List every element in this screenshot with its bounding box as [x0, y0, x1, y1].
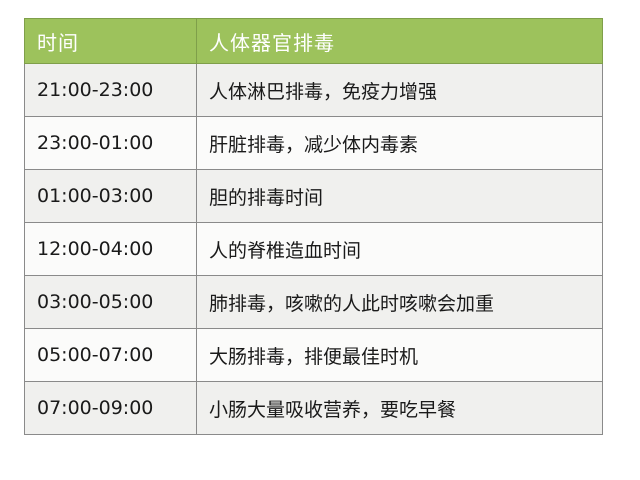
- column-header-time: 时间: [25, 19, 197, 64]
- table-row: 05:00-07:00 大肠排毒，排便最佳时机: [25, 329, 603, 382]
- table-body: 21:00-23:00 人体淋巴排毒，免疫力增强 23:00-01:00 肝脏排…: [25, 64, 603, 435]
- table-header-row: 时间 人体器官排毒: [25, 19, 603, 64]
- cell-time: 12:00-04:00: [25, 223, 197, 276]
- cell-organ: 大肠排毒，排便最佳时机: [197, 329, 603, 382]
- cell-organ: 肝脏排毒，减少体内毒素: [197, 117, 603, 170]
- table-row: 01:00-03:00 胆的排毒时间: [25, 170, 603, 223]
- cell-time: 21:00-23:00: [25, 64, 197, 117]
- cell-time: 03:00-05:00: [25, 276, 197, 329]
- table-row: 12:00-04:00 人的脊椎造血时间: [25, 223, 603, 276]
- cell-organ: 胆的排毒时间: [197, 170, 603, 223]
- cell-time: 23:00-01:00: [25, 117, 197, 170]
- cell-organ: 小肠大量吸收营养，要吃早餐: [197, 382, 603, 435]
- organ-detox-schedule-table: 时间 人体器官排毒 21:00-23:00 人体淋巴排毒，免疫力增强 23:00…: [24, 18, 603, 435]
- table-row: 21:00-23:00 人体淋巴排毒，免疫力增强: [25, 64, 603, 117]
- column-header-organ: 人体器官排毒: [197, 19, 603, 64]
- cell-time: 01:00-03:00: [25, 170, 197, 223]
- cell-organ: 人体淋巴排毒，免疫力增强: [197, 64, 603, 117]
- cell-organ: 人的脊椎造血时间: [197, 223, 603, 276]
- table-row: 07:00-09:00 小肠大量吸收营养，要吃早餐: [25, 382, 603, 435]
- table-header: 时间 人体器官排毒: [25, 19, 603, 64]
- cell-time: 07:00-09:00: [25, 382, 197, 435]
- cell-time: 05:00-07:00: [25, 329, 197, 382]
- table-row: 23:00-01:00 肝脏排毒，减少体内毒素: [25, 117, 603, 170]
- table-row: 03:00-05:00 肺排毒，咳嗽的人此时咳嗽会加重: [25, 276, 603, 329]
- page-root: 时间 人体器官排毒 21:00-23:00 人体淋巴排毒，免疫力增强 23:00…: [0, 0, 640, 480]
- cell-organ: 肺排毒，咳嗽的人此时咳嗽会加重: [197, 276, 603, 329]
